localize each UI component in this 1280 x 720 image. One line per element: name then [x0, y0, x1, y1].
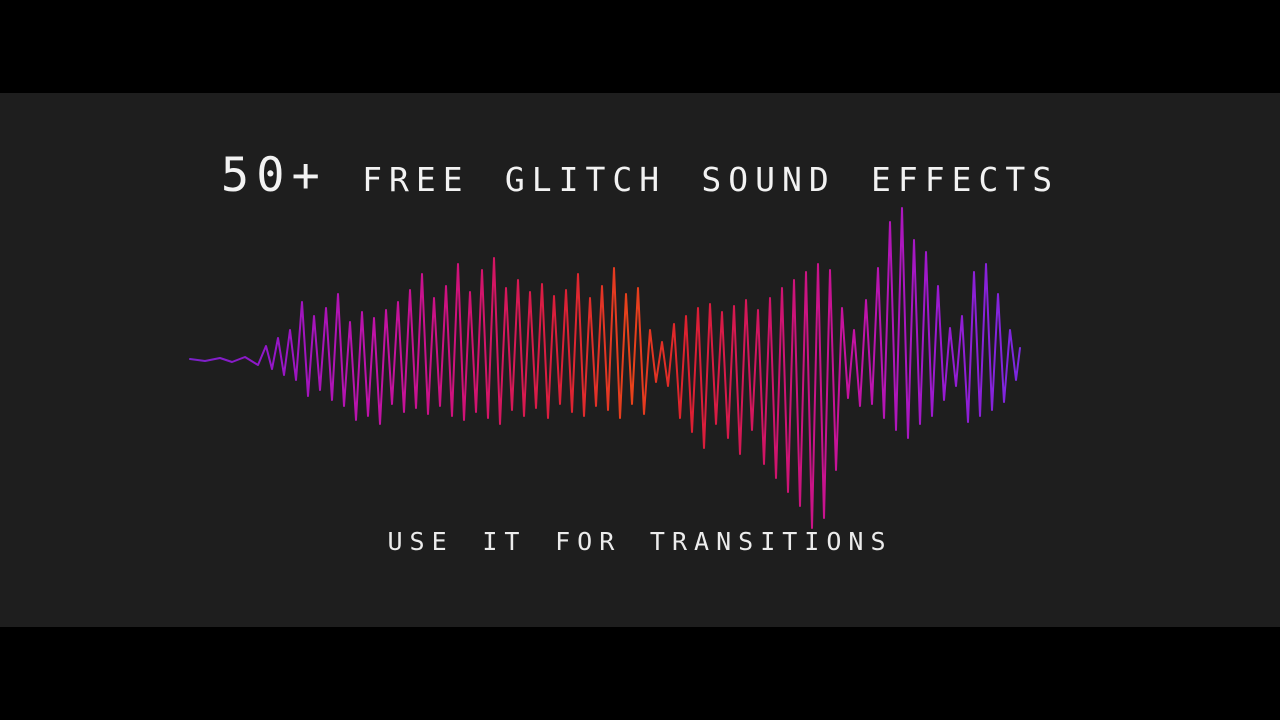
video-content-area: 50+ Free Glitch Sound Effects Use it for… — [0, 93, 1280, 627]
page-subtitle: Use it for Transitions — [0, 518, 1280, 559]
letterbox-bar-bottom — [0, 627, 1280, 720]
letterbox-bar-top — [0, 0, 1280, 93]
page-title: 50+ Free Glitch Sound Effects — [0, 148, 1280, 203]
video-frame: 50+ Free Glitch Sound Effects Use it for… — [0, 0, 1280, 720]
waveform-path — [190, 208, 1020, 528]
